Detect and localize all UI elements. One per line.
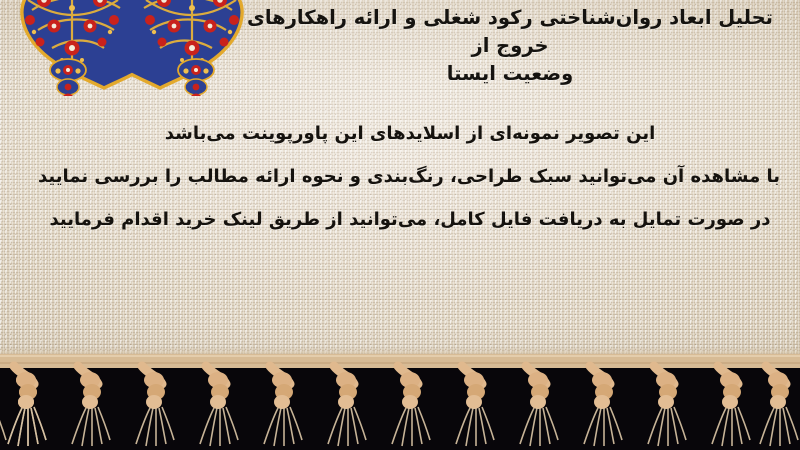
body-line-3: در صورت تمایل به دریافت فایل کامل، می‌تو… xyxy=(40,198,780,241)
slide-canvas: تحلیل ابعاد روان‌شناختی رکود شغلی و ارائ… xyxy=(0,0,800,450)
illumination-pendant-icon xyxy=(4,0,140,96)
slide-title: تحلیل ابعاد روان‌شناختی رکود شغلی و ارائ… xyxy=(230,4,790,88)
body-line-2: با مشاهده آن می‌توانید سبک طراحی، رنگ‌بن… xyxy=(40,155,780,198)
slide-title-line-1: تحلیل ابعاد روان‌شناختی رکود شغلی و ارائ… xyxy=(230,4,790,60)
ornament-pendant-drop xyxy=(178,59,214,96)
fringe-tassel-group xyxy=(0,366,798,446)
persian-illumination-ornament-left xyxy=(4,0,140,96)
ornament-pendant-drop xyxy=(50,59,86,96)
slide-title-line-2: وضعیت ایستا xyxy=(230,60,790,88)
body-line-1: این تصویر نمونه‌ای از اسلایدهای این پاور… xyxy=(40,112,780,155)
slide-body: این تصویر نمونه‌ای از اسلایدهای این پاور… xyxy=(40,112,780,241)
carpet-fringe-tassels xyxy=(0,340,800,450)
